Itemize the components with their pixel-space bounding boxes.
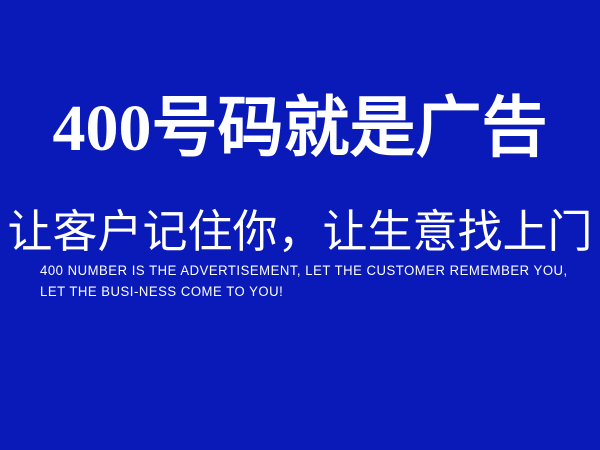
advertisement-banner: 400号码就是广告 让客户记住你，让生意找上门 400 NUMBER IS TH…	[0, 0, 600, 450]
english-line-1: 400 NUMBER IS THE ADVERTISEMENT, LET THE…	[40, 260, 558, 281]
english-line-2: LET THE BUSI-NESS COME TO YOU!	[40, 281, 558, 302]
headline-text: 400号码就是广告	[0, 92, 600, 166]
english-translation-block: 400 NUMBER IS THE ADVERTISEMENT, LET THE…	[40, 260, 574, 302]
subhead-text: 让客户记住你，让生意找上门	[0, 205, 600, 259]
